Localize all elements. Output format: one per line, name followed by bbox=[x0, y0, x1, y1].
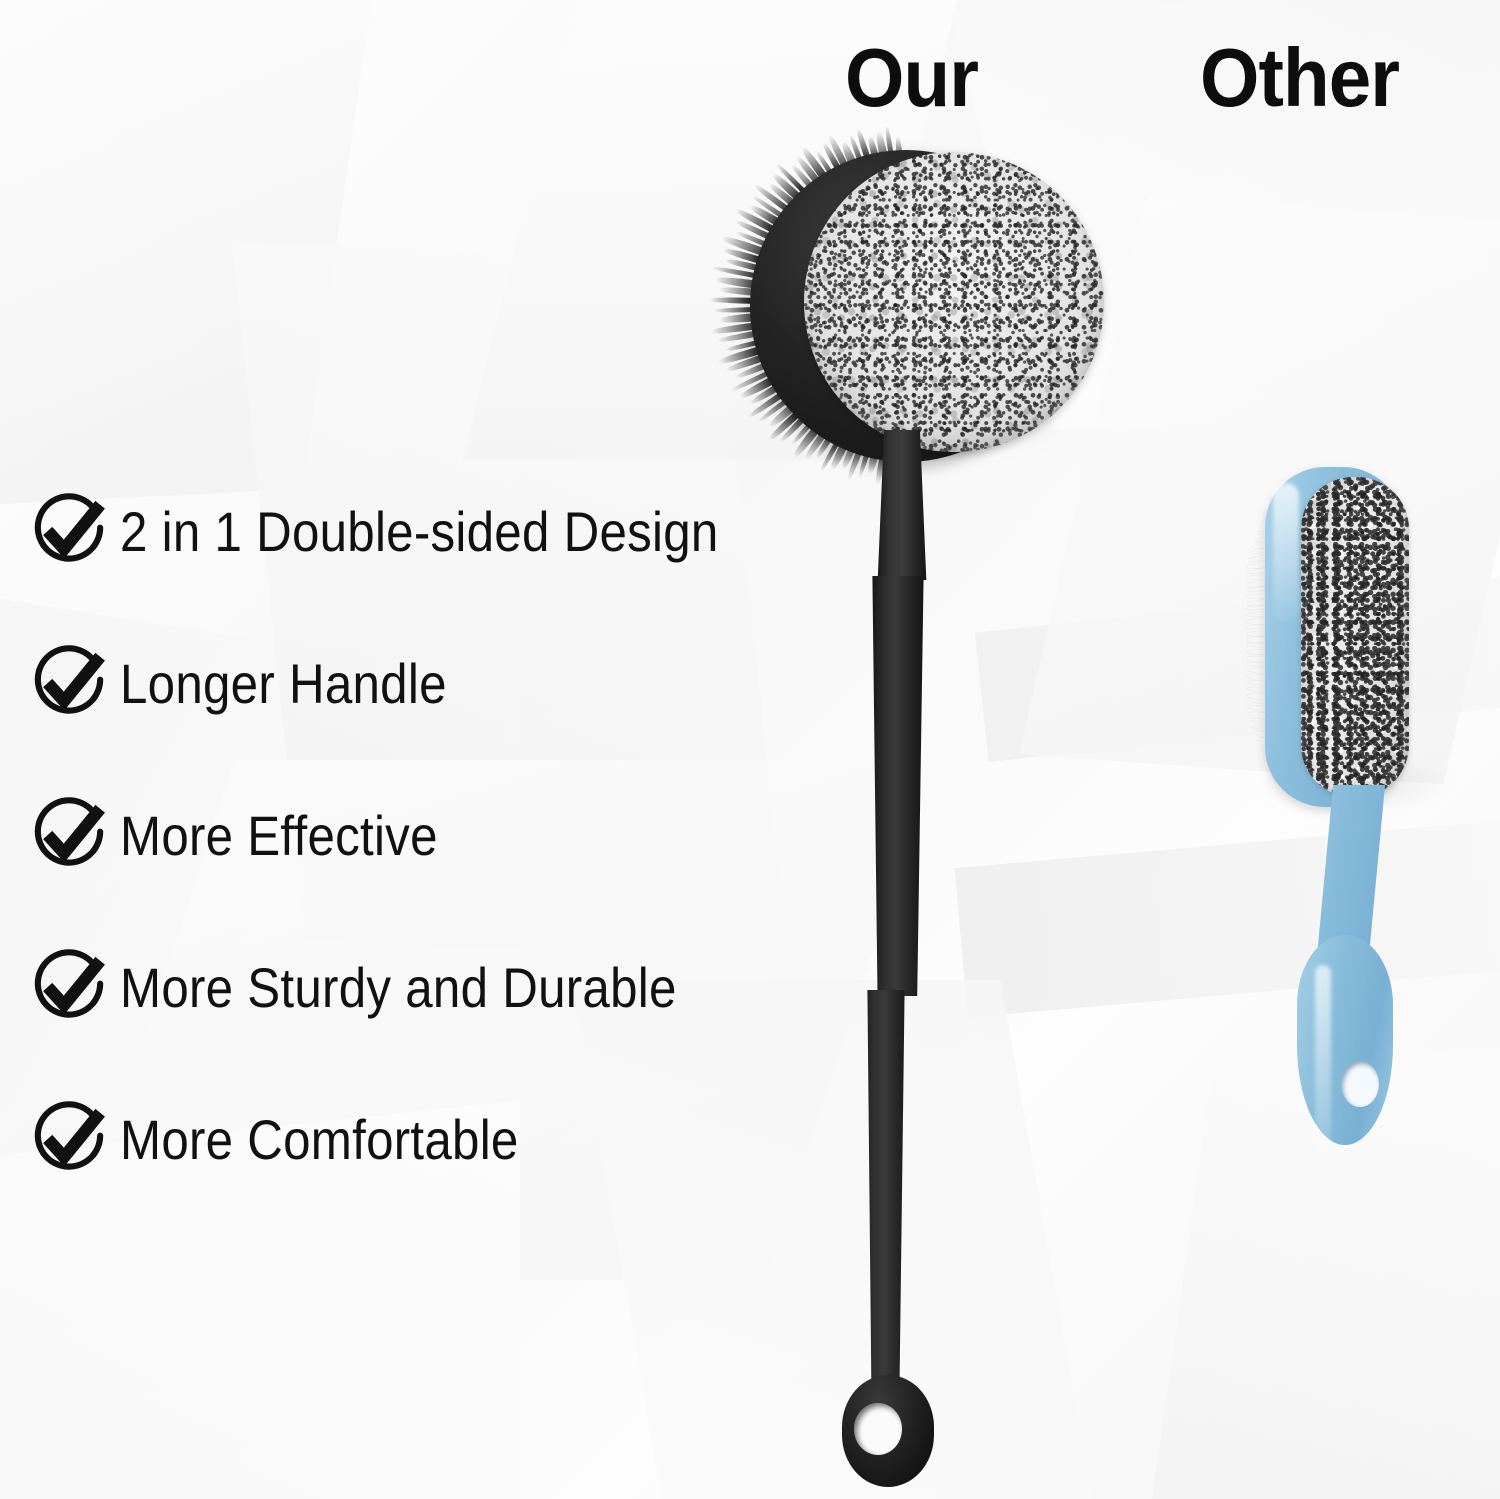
gloss-highlight bbox=[1273, 483, 1299, 623]
check-circle-icon bbox=[28, 642, 110, 724]
pumice-stone-round bbox=[804, 152, 1104, 452]
feature-label: More Sturdy and Durable bbox=[120, 955, 677, 1020]
product-comparison-image: Our Other 2 in 1 Double-sided Design Lon… bbox=[0, 0, 1500, 1499]
handle-blue bbox=[1293, 785, 1411, 1145]
check-circle-icon bbox=[28, 794, 110, 876]
column-header-other: Other bbox=[1200, 36, 1399, 119]
handle-black bbox=[868, 430, 934, 1475]
handle-mid bbox=[866, 576, 930, 996]
check-circle-icon bbox=[28, 490, 110, 572]
feature-label: Longer Handle bbox=[120, 651, 447, 716]
handle-bulb bbox=[1297, 935, 1393, 1145]
hang-hole bbox=[854, 1403, 902, 1455]
feature-label: More Effective bbox=[120, 803, 438, 868]
feature-label: 2 in 1 Double-sided Design bbox=[120, 499, 719, 564]
check-circle-icon bbox=[28, 946, 110, 1028]
hang-hole bbox=[1341, 1061, 1379, 1107]
handle-lower bbox=[856, 990, 916, 1410]
gloss-highlight bbox=[1315, 965, 1331, 1175]
column-header-ours: Our bbox=[845, 36, 978, 119]
other-product-image bbox=[1215, 455, 1465, 1145]
check-circle-icon bbox=[28, 1098, 110, 1180]
pumice-stone-bar bbox=[1301, 477, 1409, 797]
our-product-image bbox=[700, 140, 1120, 1470]
handle-end-pad bbox=[842, 1375, 934, 1487]
handle-neck bbox=[870, 430, 934, 580]
feature-label: More Comfortable bbox=[120, 1107, 519, 1172]
